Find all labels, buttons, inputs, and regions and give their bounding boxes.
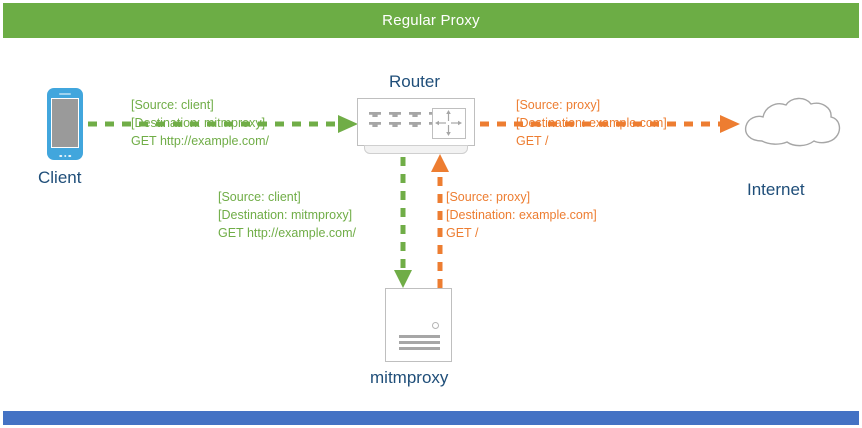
flow-label-router-to-mitmproxy: [Source: client] [Destination: mitmproxy… <box>218 188 356 242</box>
flow-line-source: [Source: client] <box>131 96 269 114</box>
flow-line-destination: [Destination: mitmproxy] <box>218 206 356 224</box>
router-direction-icon <box>432 108 466 139</box>
connector-arrows-layer <box>0 0 862 428</box>
page-title: Regular Proxy <box>382 12 480 29</box>
node-label-internet: Internet <box>747 180 805 200</box>
diagram-canvas: Regular Proxy Client Router <box>0 0 862 428</box>
flow-line-request: GET http://example.com/ <box>218 224 356 242</box>
cloud-icon <box>740 95 845 155</box>
flow-line-request: GET / <box>516 132 667 150</box>
arrow-router-to-mitmproxy <box>394 157 412 288</box>
flow-line-request: GET http://example.com/ <box>131 132 269 150</box>
node-label-mitmproxy: mitmproxy <box>370 368 448 388</box>
flow-line-source: [Source: proxy] <box>446 188 597 206</box>
document-line <box>399 347 440 350</box>
flow-line-destination: [Destination: example.com] <box>516 114 667 132</box>
node-label-router: Router <box>389 72 440 92</box>
diagram-title-bar: Regular Proxy <box>3 3 859 38</box>
document-icon <box>385 288 452 362</box>
phone-screen <box>51 98 79 148</box>
flow-label-mitmproxy-to-router: [Source: proxy] [Destination: example.co… <box>446 188 597 242</box>
flow-line-source: [Source: client] <box>218 188 356 206</box>
router-icon <box>357 98 475 156</box>
mobile-phone-icon <box>47 88 83 160</box>
flow-line-request: GET / <box>446 224 597 242</box>
diagram-footer-bar <box>3 411 859 425</box>
document-line <box>399 335 440 338</box>
flow-label-client-to-router: [Source: client] [Destination: mitmproxy… <box>131 96 269 150</box>
phone-speaker <box>59 93 71 95</box>
document-circle-mark <box>432 322 439 329</box>
flow-label-router-to-internet: [Source: proxy] [Destination: example.co… <box>516 96 667 150</box>
node-label-client: Client <box>38 168 81 188</box>
flow-line-destination: [Destination: mitmproxy] <box>131 114 269 132</box>
router-base <box>364 145 468 154</box>
router-body <box>357 98 475 146</box>
phone-home-dots <box>59 155 71 158</box>
flow-line-destination: [Destination: example.com] <box>446 206 597 224</box>
flow-line-source: [Source: proxy] <box>516 96 667 114</box>
document-line <box>399 341 440 344</box>
